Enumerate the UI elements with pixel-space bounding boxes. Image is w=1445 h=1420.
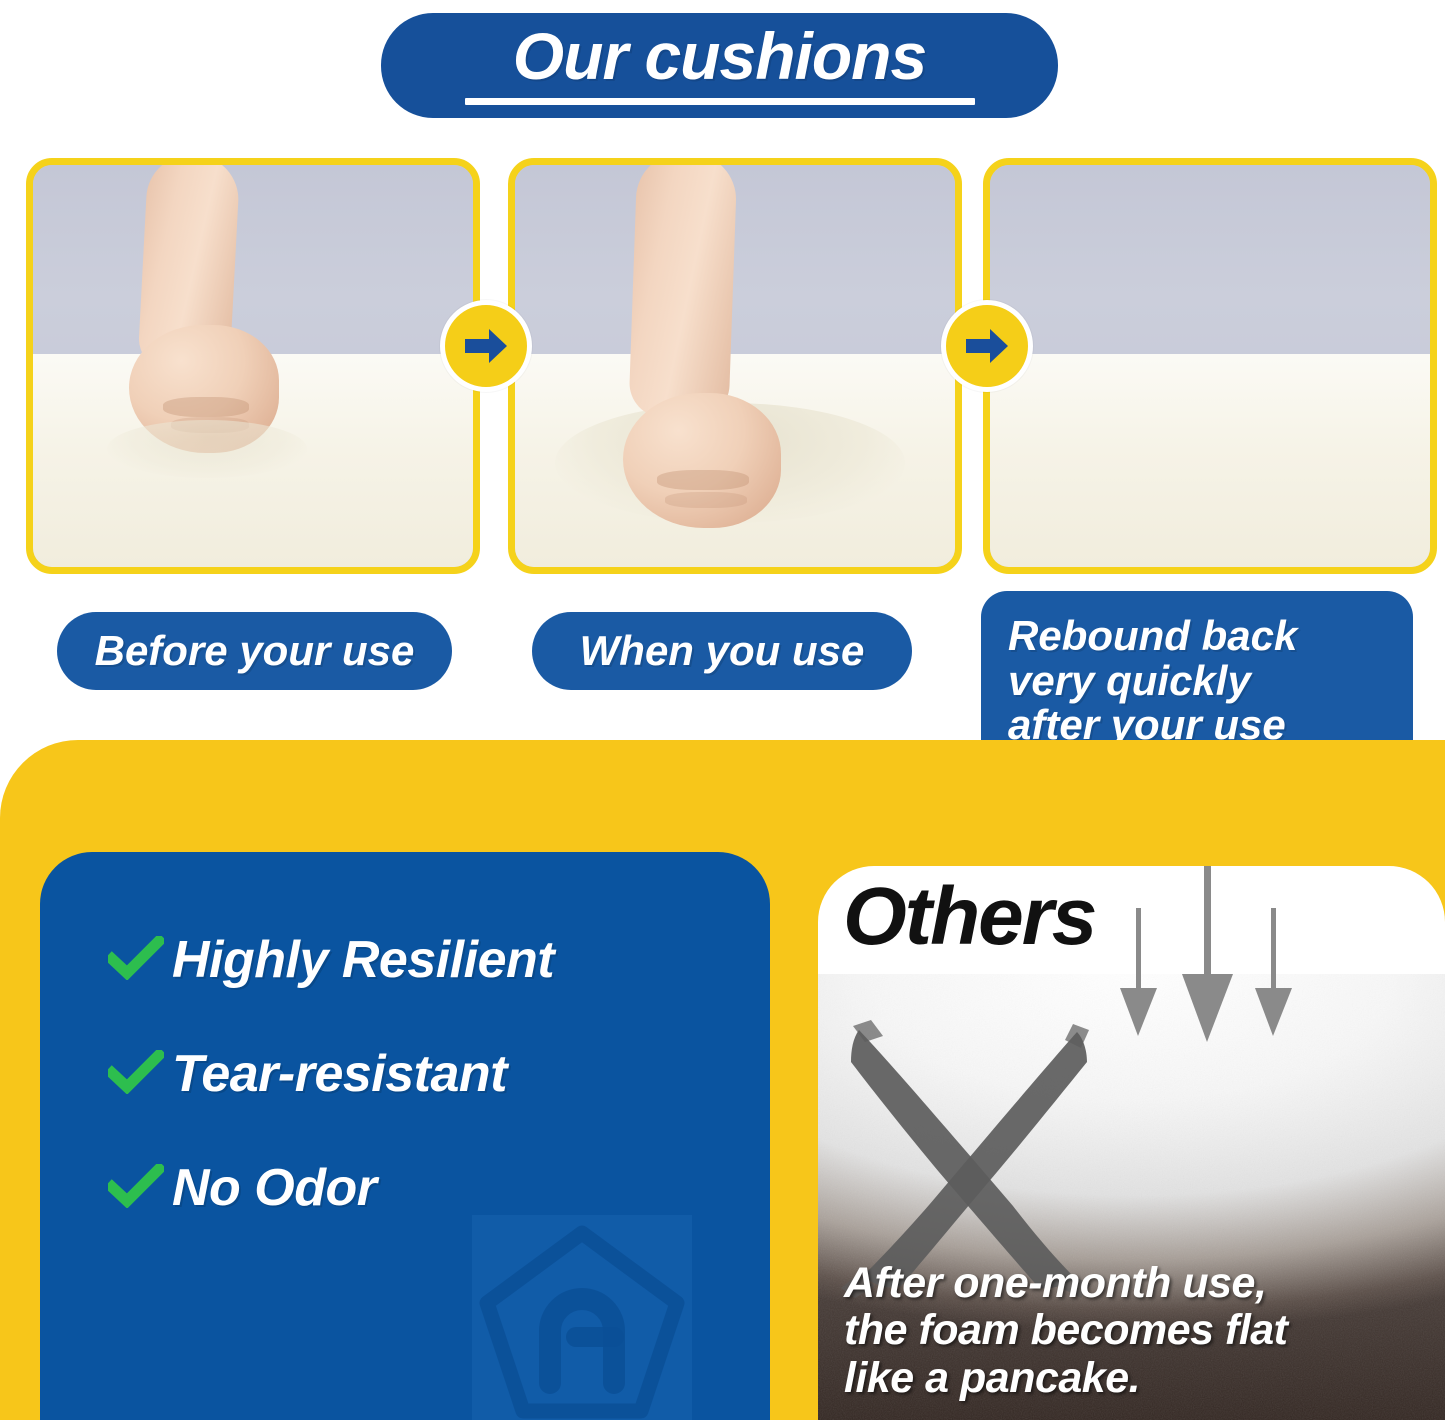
foam-surface bbox=[990, 354, 1430, 567]
knuckle-shadow bbox=[665, 492, 747, 508]
photo-background bbox=[990, 165, 1430, 354]
photo-before-use bbox=[33, 165, 473, 567]
page-title: Our cushions bbox=[513, 23, 926, 89]
others-title: Others bbox=[843, 876, 1095, 958]
step-image-1 bbox=[26, 158, 480, 574]
forearm-shape bbox=[628, 165, 737, 420]
photo-when-using bbox=[515, 165, 955, 567]
step-arrow-1 bbox=[440, 300, 532, 392]
knuckle-shadow bbox=[163, 397, 249, 417]
step-image-2 bbox=[508, 158, 962, 574]
down-arrow-icon bbox=[1108, 866, 1308, 1046]
title-underline bbox=[465, 98, 975, 105]
step-caption-line: very quickly bbox=[1008, 659, 1251, 704]
feature-item: No Odor bbox=[40, 1158, 770, 1218]
arrow-right-icon bbox=[964, 326, 1010, 366]
step-image-3 bbox=[983, 158, 1437, 574]
check-icon bbox=[108, 1050, 164, 1099]
others-caption: After one-month use, the foam becomes fl… bbox=[844, 1260, 1288, 1402]
step-caption-2: When you use bbox=[532, 612, 912, 690]
page-title-pill: Our cushions bbox=[381, 13, 1058, 118]
photo-background bbox=[33, 165, 473, 354]
step-caption-1: Before your use bbox=[57, 612, 452, 690]
step-arrow-2 bbox=[941, 300, 1033, 392]
knuckle-shadow bbox=[657, 470, 749, 490]
pentagon-a-logo-icon bbox=[472, 1215, 692, 1420]
others-caption-line: the foam becomes flat bbox=[844, 1307, 1288, 1354]
feature-label: Highly Resilient bbox=[172, 930, 554, 990]
step-caption-line: Rebound back bbox=[1008, 614, 1297, 659]
infographic-root: Our cushions bbox=[0, 0, 1445, 1420]
step-caption-label: Before your use bbox=[95, 627, 415, 675]
features-panel: Highly Resilient Tear-resistant No Odor bbox=[40, 852, 770, 1420]
feature-label: No Odor bbox=[172, 1158, 376, 1218]
feature-item: Highly Resilient bbox=[40, 930, 770, 990]
others-caption-line: After one-month use, bbox=[844, 1260, 1288, 1307]
others-caption-line: like a pancake. bbox=[844, 1355, 1288, 1402]
foam-indentation bbox=[107, 420, 307, 478]
others-panel: Others bbox=[818, 866, 1445, 1420]
check-icon bbox=[108, 1164, 164, 1213]
feature-item: Tear-resistant bbox=[40, 1044, 770, 1104]
photo-rebounded bbox=[990, 165, 1430, 567]
step-caption-label: When you use bbox=[580, 627, 865, 675]
feature-label: Tear-resistant bbox=[172, 1044, 507, 1104]
arrow-right-icon bbox=[463, 326, 509, 366]
check-icon bbox=[108, 936, 164, 985]
